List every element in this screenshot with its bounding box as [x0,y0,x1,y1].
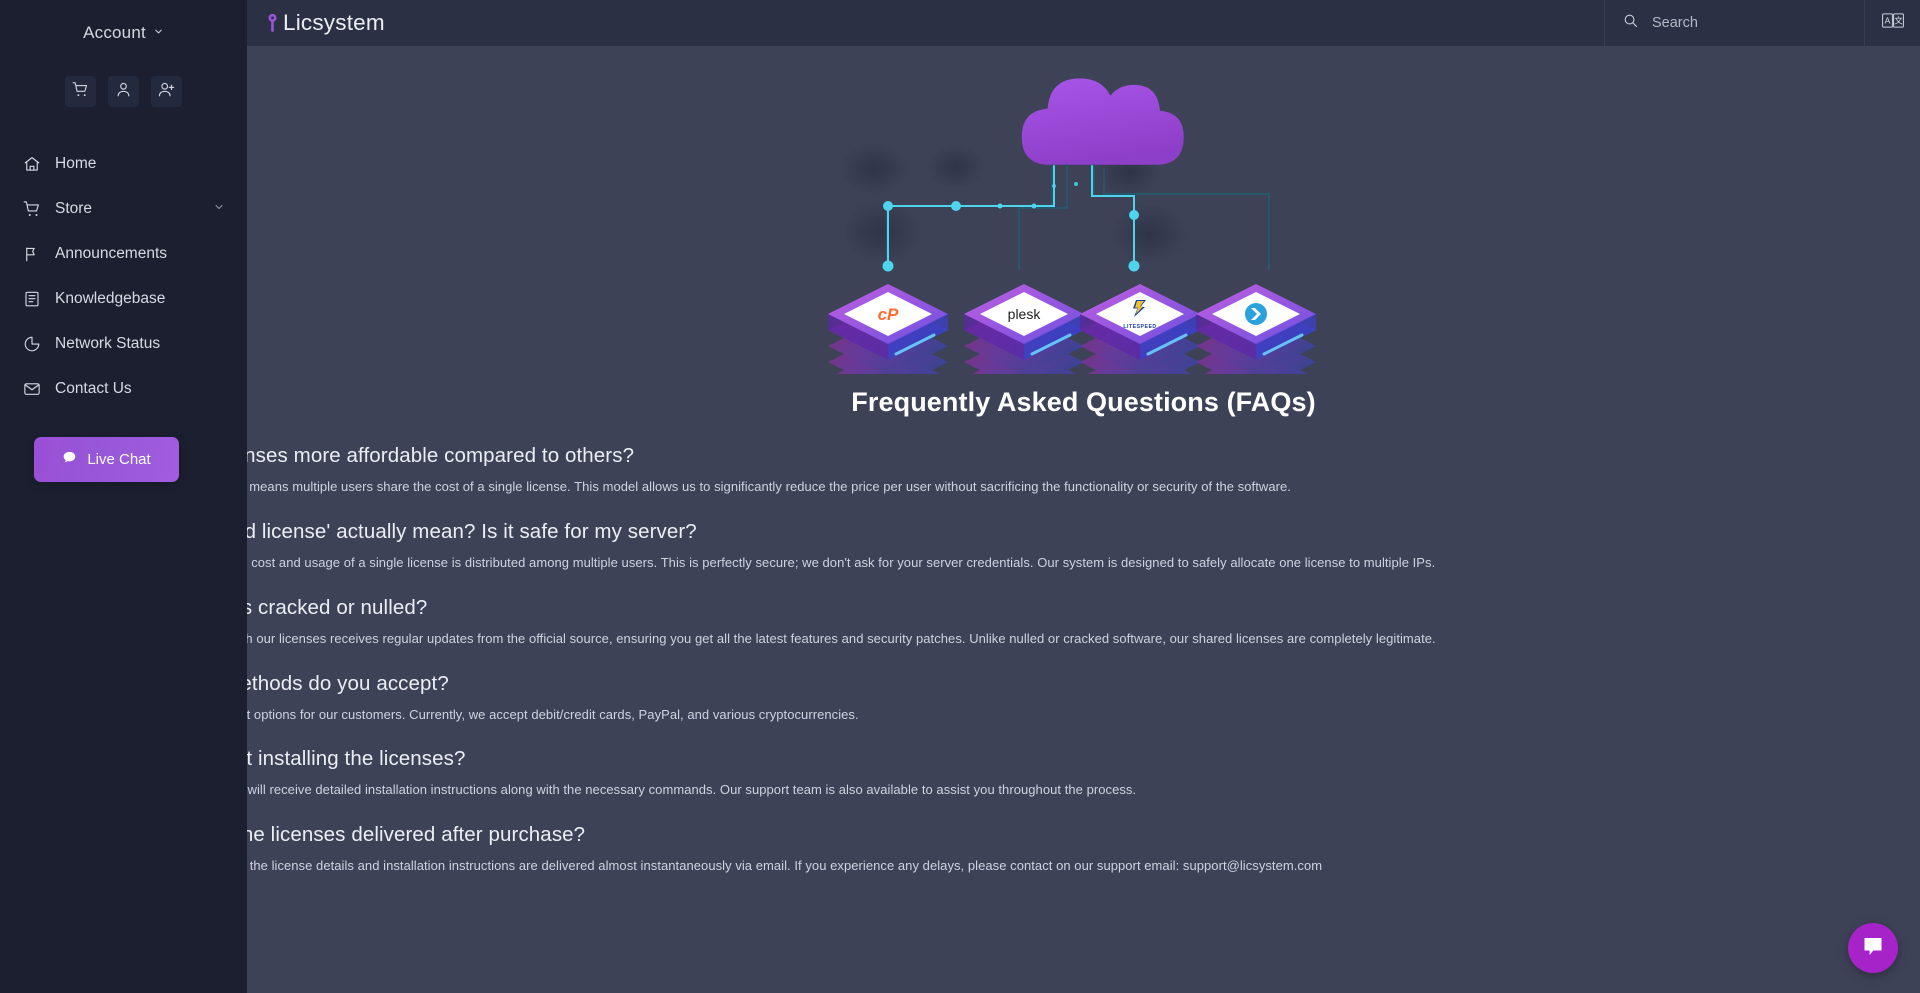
key-icon [265,12,282,34]
sidebar: Account [0,0,247,993]
faq-question: 6. How quickly are the licenses delivere… [247,823,1880,847]
brand-logo[interactable]: Licsystem [247,10,385,36]
faq-item: 2. What does 'shared license' actually m… [247,520,1880,573]
svg-text:A: A [1884,15,1890,25]
litespeed-logo-text: LITESPEED [1123,324,1156,330]
search-input[interactable] [1652,15,1832,31]
sidebar-item-label: Knowledgebase [55,290,165,308]
brand-name: Licsystem [283,10,385,36]
faq-question: 5. How do I go about installing the lice… [247,747,1880,771]
faq-answer: A shared license means that the cost and… [247,554,1880,573]
envelope-icon [22,379,41,398]
sidebar-item-home[interactable]: Home [0,141,247,186]
sidebar-nav: Home Store Announcements [0,141,247,411]
cloud-servers-diagram: cP [804,54,1364,374]
sidebar-item-contact-us[interactable]: Contact Us [0,366,247,411]
faq-item: 5. How do I go about installing the lice… [247,747,1880,800]
user-icon [115,81,132,103]
chat-bubble-icon [1861,934,1885,963]
app-root: Account [0,0,1920,993]
search-icon [1623,13,1638,33]
faq-item: 3. Are these licenses cracked or nulled?… [247,596,1880,649]
flag-icon [22,244,41,263]
page-title: Frequently Asked Questions (FAQs) [247,387,1920,418]
faq-question: 3. Are these licenses cracked or nulled? [247,596,1880,620]
sidebar-item-knowledgebase[interactable]: Knowledgebase [0,276,247,321]
translate-icon: A 文 [1882,13,1904,33]
sidebar-item-store[interactable]: Store [0,186,247,231]
cpanel-logo-text: cP [877,305,898,324]
faq-question: 2. What does 'shared license' actually m… [247,520,1880,544]
shopping-cart-icon [72,81,89,103]
chat-widget-button[interactable] [1848,923,1898,973]
svg-text:文: 文 [1894,15,1903,25]
hero-illustration: cP [247,46,1920,381]
faq-list: 1. Why are your licenses more affordable… [247,444,1920,876]
home-icon [22,154,41,173]
search-box[interactable] [1604,0,1864,46]
main-area: Licsystem A 文 [247,0,1920,993]
server-stack-group: cP [828,284,1316,374]
sidebar-item-label: Announcements [55,245,167,263]
account-dropdown[interactable]: Account [0,10,247,56]
live-chat-button[interactable]: Live Chat [34,437,179,482]
live-chat-label: Live Chat [87,451,150,468]
language-switcher-button[interactable]: A 文 [1864,0,1920,46]
content-scroll-area: cP [247,46,1920,993]
directadmin-server [1196,284,1316,374]
faq-item: 1. Why are your licenses more affordable… [247,444,1880,497]
pie-chart-icon [22,334,41,353]
cart-icon [22,199,41,218]
sidebar-item-label: Home [55,155,96,173]
faq-question: 4. What payment methods do you accept? [247,672,1880,696]
login-button[interactable] [108,76,139,107]
faq-answer: Once the payment is confirmed, the licen… [247,857,1880,876]
faq-item: 4. What payment methods do you accept? W… [247,672,1880,725]
faq-item: 6. How quickly are the licenses delivere… [247,823,1880,876]
chat-bubble-icon [62,450,77,469]
faq-answer: All the software provided through our li… [247,630,1880,649]
cart-button[interactable] [65,76,96,107]
sidebar-item-label: Contact Us [55,380,132,398]
plesk-logo-text: plesk [1007,306,1041,322]
chevron-down-icon [153,26,164,37]
sidebar-item-label: Store [55,200,92,218]
litespeed-server: LITESPEED [1080,284,1200,374]
topbar: Licsystem A 文 [247,0,1920,46]
account-label: Account [83,23,146,43]
faq-answer: We offer shared licenses, which means mu… [247,478,1880,497]
cpanel-server: cP [828,284,948,374]
book-icon [22,289,41,308]
faq-question: 1. Why are your licenses more affordable… [247,444,1880,468]
sidebar-item-network-status[interactable]: Network Status [0,321,247,366]
faq-answer: Upon purchasing a license, you will rece… [247,781,1880,800]
sidebar-item-label: Network Status [55,335,160,353]
cloud-icon [1021,78,1183,164]
faq-answer: We aim for versatility in payment option… [247,706,1880,725]
register-button[interactable] [151,76,182,107]
user-plus-icon [158,81,175,103]
chevron-down-icon[interactable] [213,200,225,218]
sidebar-quick-actions [0,76,247,107]
sidebar-item-announcements[interactable]: Announcements [0,231,247,276]
plesk-server: plesk [964,284,1084,374]
